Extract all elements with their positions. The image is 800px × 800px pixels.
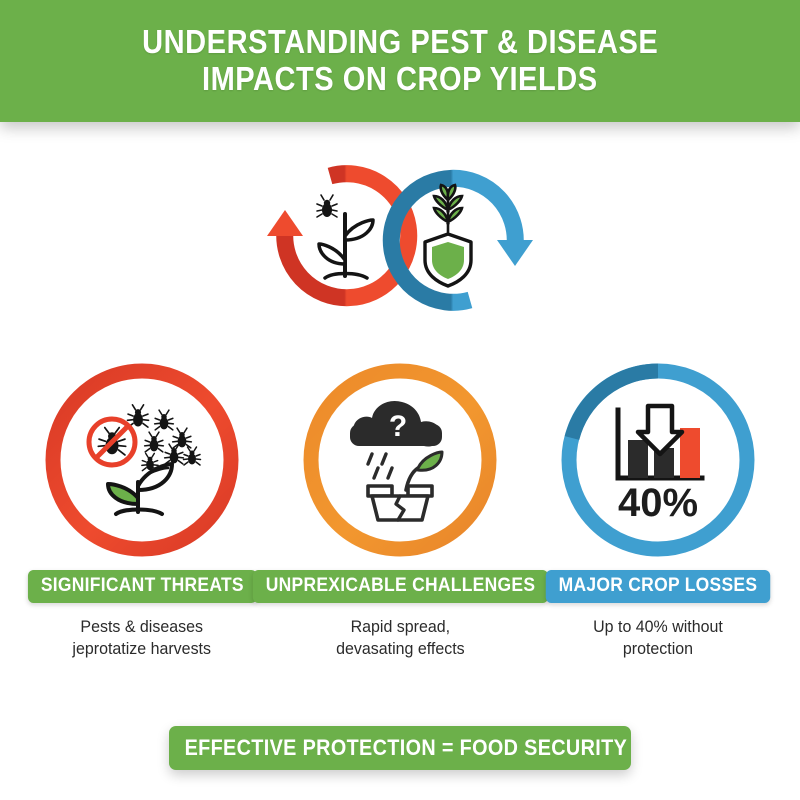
wheat-shield-icon [425, 185, 471, 286]
infographic-page: UNDERSTANDING PEST & DISEASE IMPACTS ON … [0, 0, 800, 800]
impact-columns: SIGNIFICANT THREATS Pests & diseases jep… [0, 360, 800, 680]
svg-text:?: ? [389, 410, 407, 443]
declining-bar-chart-icon: 40% [592, 394, 724, 526]
no-pests-plant-icon [76, 394, 208, 526]
no-pest-prohibition-icon [89, 419, 135, 465]
question-cloud-icon: ? [350, 401, 442, 447]
pest-on-plant-icon [317, 195, 373, 278]
question-cloud-broken-pot-icon: ? [334, 394, 466, 526]
bar-1 [628, 440, 648, 478]
stat-40-percent: 40% [618, 481, 698, 525]
circle-icon-threats [42, 360, 242, 560]
column-unprexicable-challenges: ? [277, 360, 523, 661]
banner-significant-threats[interactable]: SIGNIFICANT THREATS [28, 570, 257, 603]
caption-unprexicable-challenges: Rapid spread, devasating effects [336, 616, 465, 661]
banner-major-crop-losses[interactable]: MAJOR CROP LOSSES [546, 570, 770, 603]
banner-unprexicable-challenges[interactable]: UNPREXICABLE CHALLENGES [252, 570, 547, 603]
caption-significant-threats: Pests & diseases jeprotatize harvests [73, 616, 212, 661]
bar-3 [680, 428, 700, 478]
plant-icon [108, 464, 172, 514]
pest-protection-cycle-graphic [255, 158, 545, 318]
circle-icon-losses: 40% [558, 360, 758, 560]
broken-pot-icon [368, 486, 432, 520]
page-title-line-2: IMPACTS ON CROP YIELDS [202, 62, 598, 97]
page-title-line-1: UNDERSTANDING PEST & DISEASE [142, 25, 658, 60]
caption-major-crop-losses: Up to 40% without protection [593, 616, 723, 661]
column-major-crop-losses: 40% MAJOR CROP LOSSES Up to 40% without … [535, 360, 781, 661]
footer-label: EFFECTIVE PROTECTION = FOOD SECURITY [185, 735, 628, 761]
circle-icon-challenges: ? [300, 360, 500, 560]
rain-drops-icon [368, 454, 392, 478]
column-significant-threats: SIGNIFICANT THREATS Pests & diseases jep… [19, 360, 265, 661]
footer-banner[interactable]: EFFECTIVE PROTECTION = FOOD SECURITY [169, 726, 631, 770]
header-banner: UNDERSTANDING PEST & DISEASE IMPACTS ON … [0, 0, 800, 122]
